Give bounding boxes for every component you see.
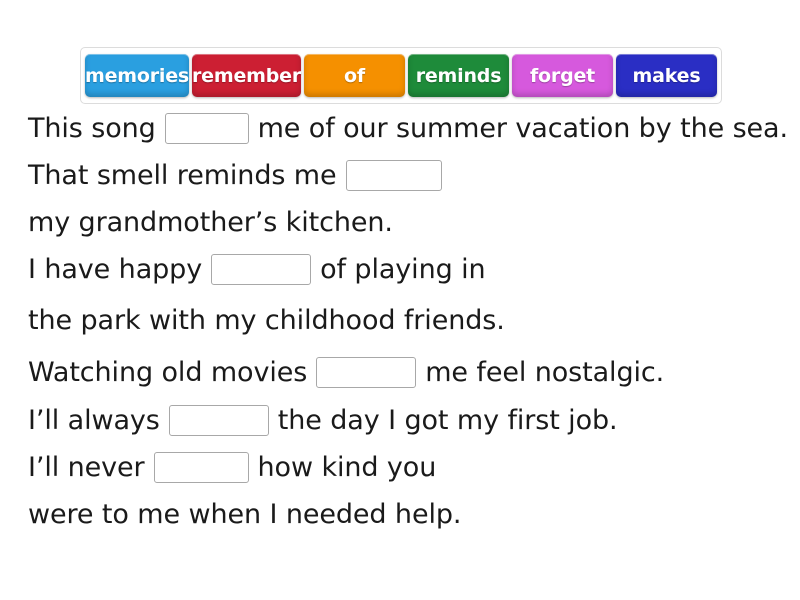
- sentence-line: This songme of our summer vacation by th…: [28, 106, 788, 150]
- answer-blank[interactable]: [165, 113, 249, 144]
- sentence-line: That smell reminds me: [28, 150, 788, 200]
- sentence-text-before: I’ll never: [28, 454, 145, 481]
- sentence-text: were to me when I needed help.: [28, 501, 461, 528]
- sentence-continuation-line: the park with my childhood friends.: [28, 294, 788, 346]
- sentence-text-before: I have happy: [28, 256, 202, 283]
- sentence-text-after: me feel nostalgic.: [425, 359, 664, 386]
- answer-blank[interactable]: [154, 452, 249, 483]
- sentence-line: I have happyof playing in: [28, 244, 788, 294]
- sentence-line: Watching old moviesme feel nostalgic.: [28, 346, 788, 398]
- sentence-continuation-line: were to me when I needed help.: [28, 492, 788, 536]
- word-tile-of[interactable]: of: [304, 54, 405, 97]
- sentence-text-after: the day I got my first job.: [278, 407, 618, 434]
- answer-blank[interactable]: [346, 160, 442, 191]
- word-tile-reminds[interactable]: reminds: [408, 54, 509, 97]
- sentence-text-after: how kind you: [258, 454, 437, 481]
- word-tile-memories[interactable]: memories: [85, 54, 189, 97]
- sentence-list: This songme of our summer vacation by th…: [28, 106, 788, 536]
- answer-blank[interactable]: [211, 254, 311, 285]
- word-bank: memoriesrememberofremindsforgetmakes: [80, 47, 722, 104]
- sentence-text-after: me of our summer vacation by the sea.: [258, 115, 788, 142]
- sentence-line: I’ll alwaysthe day I got my first job.: [28, 398, 788, 442]
- sentence-line: I’ll neverhow kind you: [28, 442, 788, 492]
- sentence-text: the park with my childhood friends.: [28, 307, 505, 334]
- word-tile-forget[interactable]: forget: [512, 54, 613, 97]
- sentence-text-after: of playing in: [320, 256, 485, 283]
- answer-blank[interactable]: [169, 405, 269, 436]
- sentence-text-before: I’ll always: [28, 407, 160, 434]
- sentence-text-before: This song: [28, 115, 156, 142]
- answer-blank[interactable]: [316, 357, 416, 388]
- word-tile-makes[interactable]: makes: [616, 54, 717, 97]
- sentence-text-before: Watching old movies: [28, 359, 307, 386]
- word-tile-remember[interactable]: remember: [192, 54, 301, 97]
- sentence-continuation-line: my grandmother’s kitchen.: [28, 200, 788, 244]
- sentence-text-before: That smell reminds me: [28, 162, 337, 189]
- sentence-text: my grandmother’s kitchen.: [28, 209, 393, 236]
